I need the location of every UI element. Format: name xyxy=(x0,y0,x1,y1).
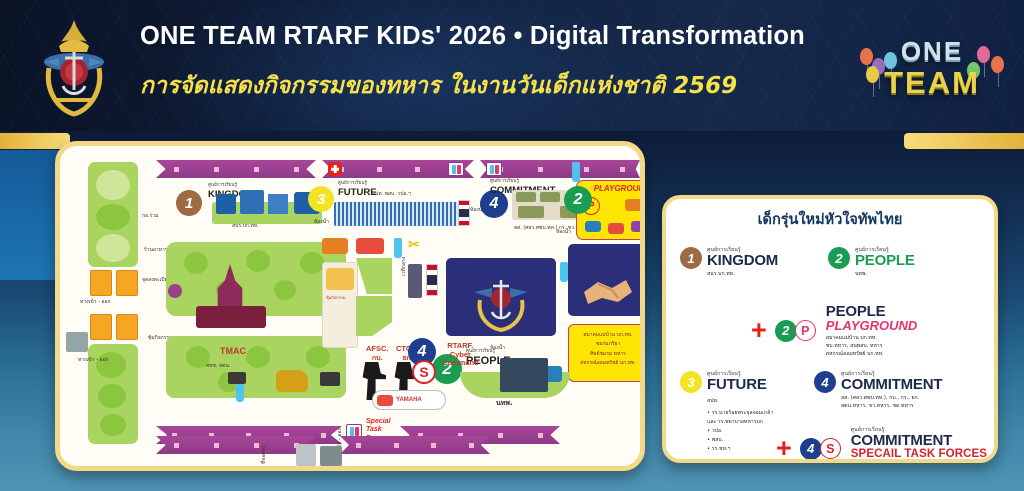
tree-cluster xyxy=(96,170,130,200)
map-label-entrance1: ทางเข้า - ออก xyxy=(80,298,111,306)
banner-bottom-3 xyxy=(156,436,316,454)
zone-future-caption: สปท. พสบ. วปอ.ฯ xyxy=(372,190,411,198)
zone-people-caption: นทพ. xyxy=(496,398,513,409)
plus-icon: + xyxy=(776,438,792,460)
green-shape xyxy=(356,296,392,336)
cyber-screen-icon xyxy=(500,358,548,392)
page-header: ONE TEAM RTARF KIDs' 2026 • Digital Tran… xyxy=(0,0,1024,131)
one-team-logo: ONE TEAM xyxy=(858,18,1006,118)
legend-item-commitment[interactable]: 4 ศูนย์การเรียนรู้ COMMITMENT สส. (ศสว.ศ… xyxy=(814,371,942,410)
vehicle-icon xyxy=(540,192,560,202)
map-label-foodcourt: ร้านอาหาร xyxy=(144,246,168,254)
legend-item-people[interactable]: 2 ศูนย์การเรียนรู้ PEOPLE นทพ. xyxy=(828,247,915,278)
event-map-card: จุดลงทะเบียน ทางเข้า - ออก ร้านอาหาร กอ.… xyxy=(55,141,645,471)
green-shape xyxy=(356,258,392,294)
tmac-sub-label: ศทช. สตน. xyxy=(206,362,230,370)
tree-cluster xyxy=(96,204,130,230)
booth-icon xyxy=(116,270,138,296)
legend-grid: 1 ศูนย์การเรียนรู้ KINGDOM สนร.บก.ทท. 2 … xyxy=(666,231,994,453)
atv-icon xyxy=(585,221,601,232)
motorbike-icon xyxy=(377,395,393,406)
map-label-parking: ที่จอดรถ xyxy=(260,446,268,464)
legend-item-kingdom[interactable]: 1 ศูนย์การเรียนรู้ KINGDOM สนร.บก.ทท. xyxy=(680,247,778,278)
legend-name-stf: COMMITMENT xyxy=(851,433,987,448)
banner-bottom-4 xyxy=(340,436,490,454)
legend-units-pg-1: สมาคมแม่บ้าน บก.ทท. xyxy=(826,334,917,342)
gate-icon xyxy=(66,332,88,352)
legend-item-people-playground[interactable]: + 2 P PEOPLE PLAYGROUND สมาคมแม่บ้าน บก.… xyxy=(751,303,917,358)
legend-title: เด็กรุ่นใหม่หัวใจทัพไทย xyxy=(666,208,994,231)
logo-line-one: ONE xyxy=(901,36,963,67)
toilet-icon xyxy=(486,162,502,176)
scissors-icon: ✂ xyxy=(408,236,420,253)
dog-icon xyxy=(276,370,308,392)
legend-badge-2b: 2 xyxy=(775,320,797,342)
map-label-toilet-cy: ห้องน้ำ xyxy=(490,344,505,352)
zone-commitment-pre: ศูนย์การเรียนรู้ xyxy=(490,178,555,185)
legend-badge-p: P xyxy=(795,320,816,341)
water-station-icon xyxy=(572,162,580,182)
booth-icon xyxy=(90,314,112,340)
tree-icon xyxy=(98,384,126,408)
rtarf-cyber-command-label: RTARF. Cyber Command xyxy=(442,342,479,368)
legend-badge-s: S xyxy=(820,438,841,459)
first-aid-icon xyxy=(328,162,342,176)
yellow-note-line-2: ชมรมภริยา xyxy=(569,340,645,349)
yamaha-label: YAMAHA xyxy=(396,397,422,403)
legend-units-pg-3: สหกรณ์ออมทรัพย์ บก.ทท. xyxy=(826,350,917,358)
equipment-icon xyxy=(228,372,246,384)
legend-name-people2: PEOPLE xyxy=(826,304,917,319)
legend-badge-3: 3 xyxy=(680,371,702,393)
legend-bullet-3: • วปอ. xyxy=(707,427,773,436)
banner-kingdom xyxy=(156,160,316,178)
tree-cluster xyxy=(96,234,130,262)
map-label-toilet-f: ห้องน้ำ xyxy=(314,218,329,226)
zone-future-name: FUTURE xyxy=(338,187,377,198)
yellow-note-box: สมาคมแม่บ้าน บก.ทท. ชมรมภริยา ศิษย์ชมรม … xyxy=(568,324,645,382)
tent-icon xyxy=(326,268,354,290)
yellow-note-line-4: สหกรณ์ออมทรัพย์ บก.ทท. xyxy=(569,359,645,368)
legend-item-future[interactable]: 3 ศูนย์การเรียนรู้ FUTURE สปท. • รร.นายร… xyxy=(680,371,773,454)
legend-bullets-future: • รร.นายร้อยพระจุลจอมเกล้า และ รร.พยาบาล… xyxy=(707,409,773,454)
legend-bullet-1: • รร.นายร้อยพระจุลจอมเกล้า xyxy=(707,409,773,418)
zone-future-label: ศูนย์การเรียนรู้ FUTURE xyxy=(338,180,377,198)
legend-bullet-5: • รร.ชท.ฯ xyxy=(707,445,773,454)
afsc-label-block: AFSC. กบ. xyxy=(366,344,389,364)
map-label-toilet-c: ห้องน้ำ xyxy=(470,206,485,214)
playground-title: PLAYGROUND xyxy=(594,184,645,193)
yamaha-booth: YAMAHA xyxy=(372,390,446,410)
tree-icon xyxy=(246,346,270,368)
plus-icon: + xyxy=(751,320,767,342)
tree-icon xyxy=(100,414,126,436)
gold-strip-left xyxy=(0,133,70,149)
booth-icon xyxy=(90,270,112,296)
legend-units-pg-2: ชบ.ทหาร, สนพสบ. ทหาร xyxy=(826,342,917,350)
zone-kingdom-pre: ศูนย์การเรียนรู้ xyxy=(208,182,254,189)
water-station-icon xyxy=(236,382,244,402)
legend-bullet-2: และ รร.พยาบาลทหารบก xyxy=(707,418,773,427)
legend-units-kingdom: สนร.บก.ทท. xyxy=(707,270,778,278)
afsc-label: AFSC. xyxy=(366,344,389,353)
atv-icon xyxy=(625,199,643,211)
legend-units-people: นทพ. xyxy=(855,270,915,278)
marker-dot xyxy=(168,284,182,298)
booth-caption: ซุ้มกิจกรรม xyxy=(326,294,345,301)
tree-icon xyxy=(246,250,270,272)
legend-panel: เด็กรุ่นใหม่หัวใจทัพไทย 1 ศูนย์การเรียนร… xyxy=(662,195,998,463)
tree-icon xyxy=(306,346,330,368)
security-icon xyxy=(320,446,342,466)
vehicle-icon xyxy=(516,192,536,202)
future-buildings xyxy=(334,202,464,226)
legend-name-future: FUTURE xyxy=(707,377,773,392)
legend-units-cm-2: สตน.ทหาร, ขว.ทหาร, ชด.ทหาร xyxy=(841,402,942,410)
building-icon xyxy=(216,194,236,214)
rtarf-emblem-icon xyxy=(31,16,117,120)
legend-units-future: สปท. xyxy=(707,397,773,405)
legend-units-stf: นขบ.ทหาร, ศตก., ศทก., ศทพ.ศบท. xyxy=(851,462,987,463)
legend-name-people: PEOPLE xyxy=(855,253,915,268)
yellow-note-line-3: ศิษย์ชมรม ทหาร xyxy=(569,350,645,359)
legend-badge-2: 2 xyxy=(828,247,850,269)
toilet-icon xyxy=(346,424,362,438)
legend-badge-4: 4 xyxy=(814,371,836,393)
page-title-th: การจัดแสดงกิจกรรมของทหาร ในงานวันเด็กแห่… xyxy=(140,68,880,104)
map-label-stage-side: เวทีกลาง xyxy=(400,257,408,276)
equipment-icon xyxy=(320,372,340,386)
building-icon xyxy=(268,194,288,214)
legend-bullet-4: • พสบ. xyxy=(707,436,773,445)
legend-name-kingdom: KINGDOM xyxy=(707,253,778,268)
main-stage xyxy=(446,258,556,336)
tank-icon xyxy=(518,206,544,218)
legend-name-commitment: COMMITMENT xyxy=(841,377,942,392)
water-station-icon xyxy=(394,238,402,258)
atv-icon xyxy=(631,221,645,232)
thai-flag-icon xyxy=(426,264,438,296)
map-label-entrance2: ทางเข้า - ออก xyxy=(78,356,109,364)
food-truck-icon xyxy=(356,238,384,254)
thai-flag-icon xyxy=(458,200,470,226)
map-badge-s-cyber[interactable]: S xyxy=(412,360,436,384)
map-label-gate: กอ.ร่วม xyxy=(142,212,158,220)
tree-icon xyxy=(300,252,324,274)
gold-strip-right xyxy=(904,133,1024,149)
header-title-block: ONE TEAM RTARF KIDs' 2026 • Digital Tran… xyxy=(140,22,880,104)
tree-icon xyxy=(274,280,296,300)
tmac-label: TMAC xyxy=(220,346,246,356)
water-station-icon xyxy=(560,262,568,282)
tree-icon xyxy=(184,252,208,274)
page-title-en: ONE TEAM RTARF KIDs' 2026 • Digital Tran… xyxy=(140,22,880,51)
map-badge-1[interactable]: 1 xyxy=(176,190,202,216)
zone-future-pre: ศูนย์การเรียนรู้ xyxy=(338,180,377,187)
legend-units-cm-1: สส. (ศสว.ศซบ.ทท.), กบ., กร., ยก. xyxy=(841,394,942,402)
legend-sub-stf: SPECAIL TASK FORCES xyxy=(851,448,987,460)
map-badge-3[interactable]: 3 xyxy=(308,186,334,212)
legend-item-special-task-forces[interactable]: + 4 S ศูนย์การเรียนรู้ COMMITMENT SPECAI… xyxy=(776,427,987,463)
yellow-note-line-1: สมาคมแม่บ้าน บก.ทท. xyxy=(569,325,645,340)
legend-sub-playground: PLAYGROUND xyxy=(826,319,917,333)
map-badge-2-playground[interactable]: 2 xyxy=(564,186,592,214)
map-label-toilet-p: ห้องน้ำ xyxy=(556,228,571,236)
monument-base xyxy=(196,306,266,328)
toilet-icon xyxy=(448,162,464,176)
logo-line-team: TEAM xyxy=(884,65,980,101)
zone-kingdom-caption: สนร.บก.ทท. xyxy=(232,222,259,230)
booth-icon xyxy=(116,314,138,340)
screen-icon xyxy=(408,264,422,298)
food-truck-icon xyxy=(322,238,348,254)
atv-icon xyxy=(608,223,624,234)
navy-panel-handshake xyxy=(568,258,645,316)
legend-badge-1: 1 xyxy=(680,247,702,269)
legend-badge-4b: 4 xyxy=(800,438,822,460)
building-icon xyxy=(240,190,264,214)
gate-icon xyxy=(296,444,316,466)
